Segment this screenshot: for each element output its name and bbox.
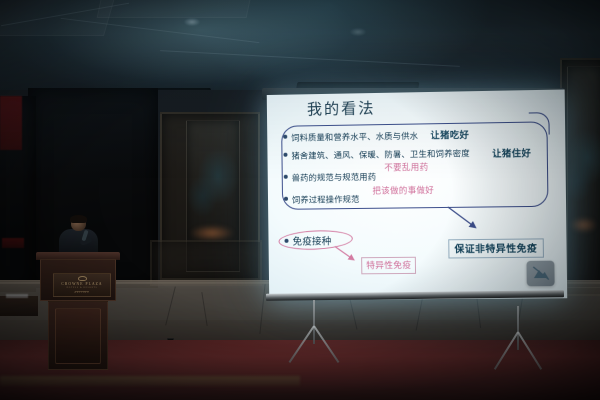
bullet-row: 兽药的规范与规范用药 (284, 171, 377, 184)
crest-icon (78, 276, 87, 281)
projection-screen: 我的看法 饲料质量和营养水平、水质与供水 让猪吃好 猪舍建筑、通风、保暖、防暑、… (267, 89, 567, 300)
bullet-annotation-row: 把该做的事做好 (372, 184, 434, 197)
arrow-to-callout (446, 204, 498, 237)
ceiling-downlight (350, 28, 366, 36)
plaque-brand-text: CROWNE PLAZA (61, 282, 102, 286)
ceiling-downlight (184, 18, 200, 26)
grouping-connector (529, 112, 550, 135)
screen-tripod-pole (313, 300, 315, 344)
podium-front-panel: CROWNE PLAZA HOTELS & RESORTS BEIJING (40, 259, 116, 301)
podium-column (48, 301, 108, 370)
hotel-brand-plaque: CROWNE PLAZA HOTELS & RESORTS BEIJING (53, 273, 111, 297)
presenter-person (56, 216, 100, 256)
projector-screen-assembly: 我的看法 饲料质量和营养水平、水质与供水 让猪吃好 猪舍建筑、通风、保暖、防暑、… (262, 88, 564, 310)
presenter-hair (70, 215, 87, 223)
bullet-text: 饲料质量和营养水平、水质与供水 (291, 130, 418, 144)
boxed-callout: 保证非特异性免疫 (448, 238, 543, 258)
bullet-text: 饲养过程操作规范 (292, 193, 360, 206)
carpet-border-band (0, 376, 300, 386)
group-callout: 让猪住好 (492, 146, 531, 160)
screen-tripod-pole (517, 306, 519, 350)
podium-column-inset (55, 308, 101, 364)
bullet-annotation: 让猪吃好 (430, 128, 469, 142)
conference-room-photo: 我的看法 饲料质量和营养水平、水质与供水 让猪吃好 猪舍建筑、通风、保暖、防暑、… (0, 0, 600, 400)
bullet-dot-icon (284, 197, 288, 201)
logo-watermark-icon (526, 261, 554, 287)
bullet-annotation: 把该做的事做好 (372, 184, 434, 197)
lectern-podium: CROWNE PLAZA HOTELS & RESORTS BEIJING (36, 252, 120, 370)
slide-title: 我的看法 (307, 97, 376, 119)
bullet-dot-icon (283, 153, 287, 157)
plaque-subtitle-text: HOTELS & RESORTS (67, 287, 98, 289)
bullet-annotation: 不要乱用药 (384, 161, 428, 174)
bullet-dot-icon (284, 175, 288, 179)
papers-on-table (6, 294, 28, 298)
plaque-city-text: BEIJING (75, 291, 90, 295)
bullet-text: 兽药的规范与规范用药 (292, 171, 377, 184)
mountain-glyph-icon (532, 266, 549, 281)
ceiling (0, 0, 600, 95)
pink-callout-text: 特异性免疫 (361, 257, 416, 275)
wall-light-strip (2, 238, 24, 248)
boxed-callout-text: 保证非特异性免疫 (448, 238, 543, 258)
group-callout-text: 让猪住好 (492, 146, 531, 160)
bullet-annotation-row: 不要乱用药 (384, 161, 428, 174)
bullet-row: 饲养过程操作规范 (284, 193, 360, 206)
side-table (0, 296, 38, 316)
arrow-to-pink-callout (335, 246, 361, 264)
wall-sign (0, 96, 22, 150)
bullet-text: 猪舍建筑、通风、保暖、防暑、卫生和饲养密度 (291, 147, 469, 162)
bullet-dot-icon (283, 135, 287, 139)
pink-callout-box: 特异性免疫 (361, 257, 416, 275)
presentation-slide: 我的看法 饲料质量和营养水平、水质与供水 让猪吃好 猪舍建筑、通风、保暖、防暑、… (267, 89, 567, 300)
